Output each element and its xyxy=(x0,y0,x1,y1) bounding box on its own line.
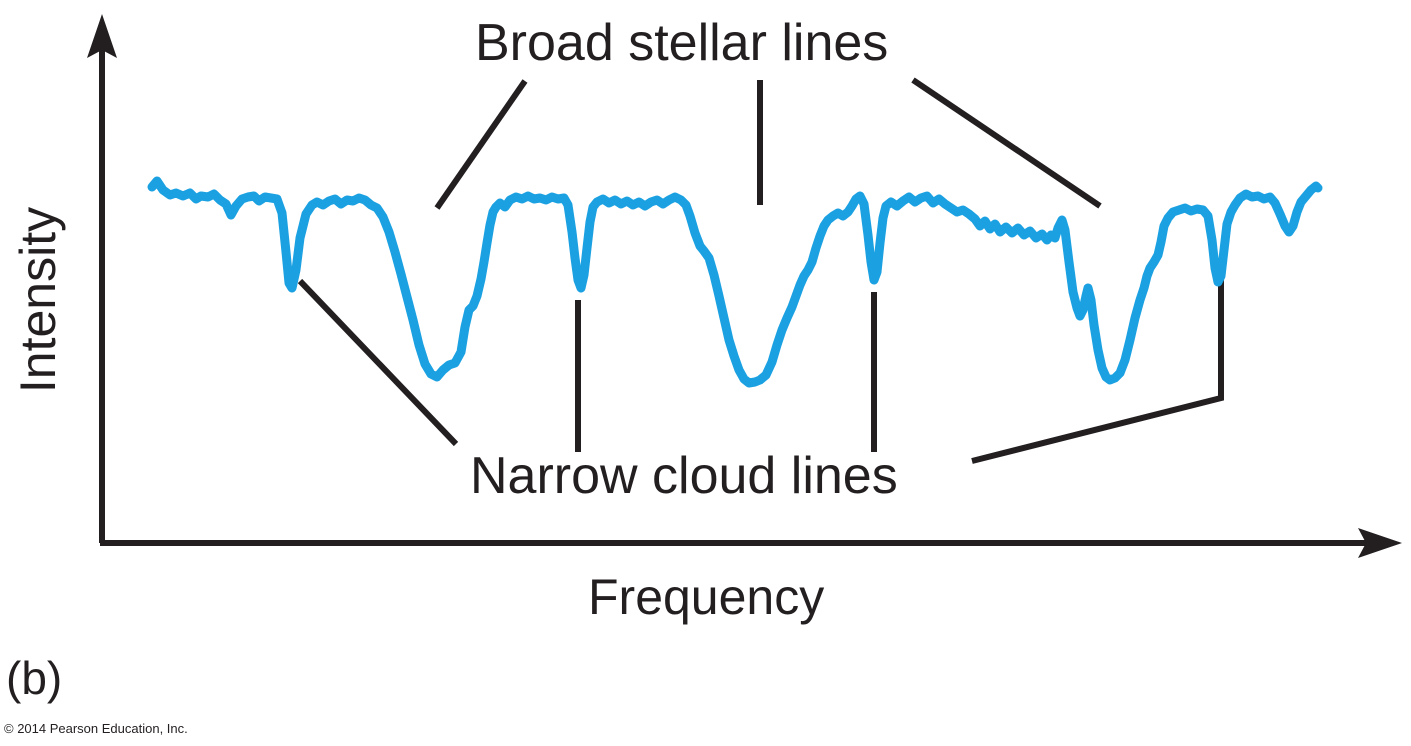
spectrum-curve-path xyxy=(152,181,1318,383)
spectrum-plot xyxy=(0,0,1411,746)
copyright-notice: © 2014 Pearson Education, Inc. xyxy=(4,722,188,735)
y-axis xyxy=(87,14,117,543)
y-axis-label: Intensity xyxy=(13,200,63,400)
annotation-broad-stellar-lines: Broad stellar lines xyxy=(475,17,888,69)
x-axis-label: Frequency xyxy=(588,572,824,622)
panel-label: (b) xyxy=(6,655,62,701)
broad-leader-right xyxy=(913,80,1100,206)
x-axis xyxy=(100,528,1402,558)
narrow-leader-1 xyxy=(300,281,456,444)
broad-leader-left xyxy=(437,81,525,208)
broad-stellar-leaders xyxy=(437,80,1100,208)
narrow-leader-4-elbow xyxy=(972,280,1221,461)
figure-container: Broad stellar lines Narrow cloud lines I… xyxy=(0,0,1411,746)
annotation-narrow-cloud-lines: Narrow cloud lines xyxy=(470,450,898,502)
